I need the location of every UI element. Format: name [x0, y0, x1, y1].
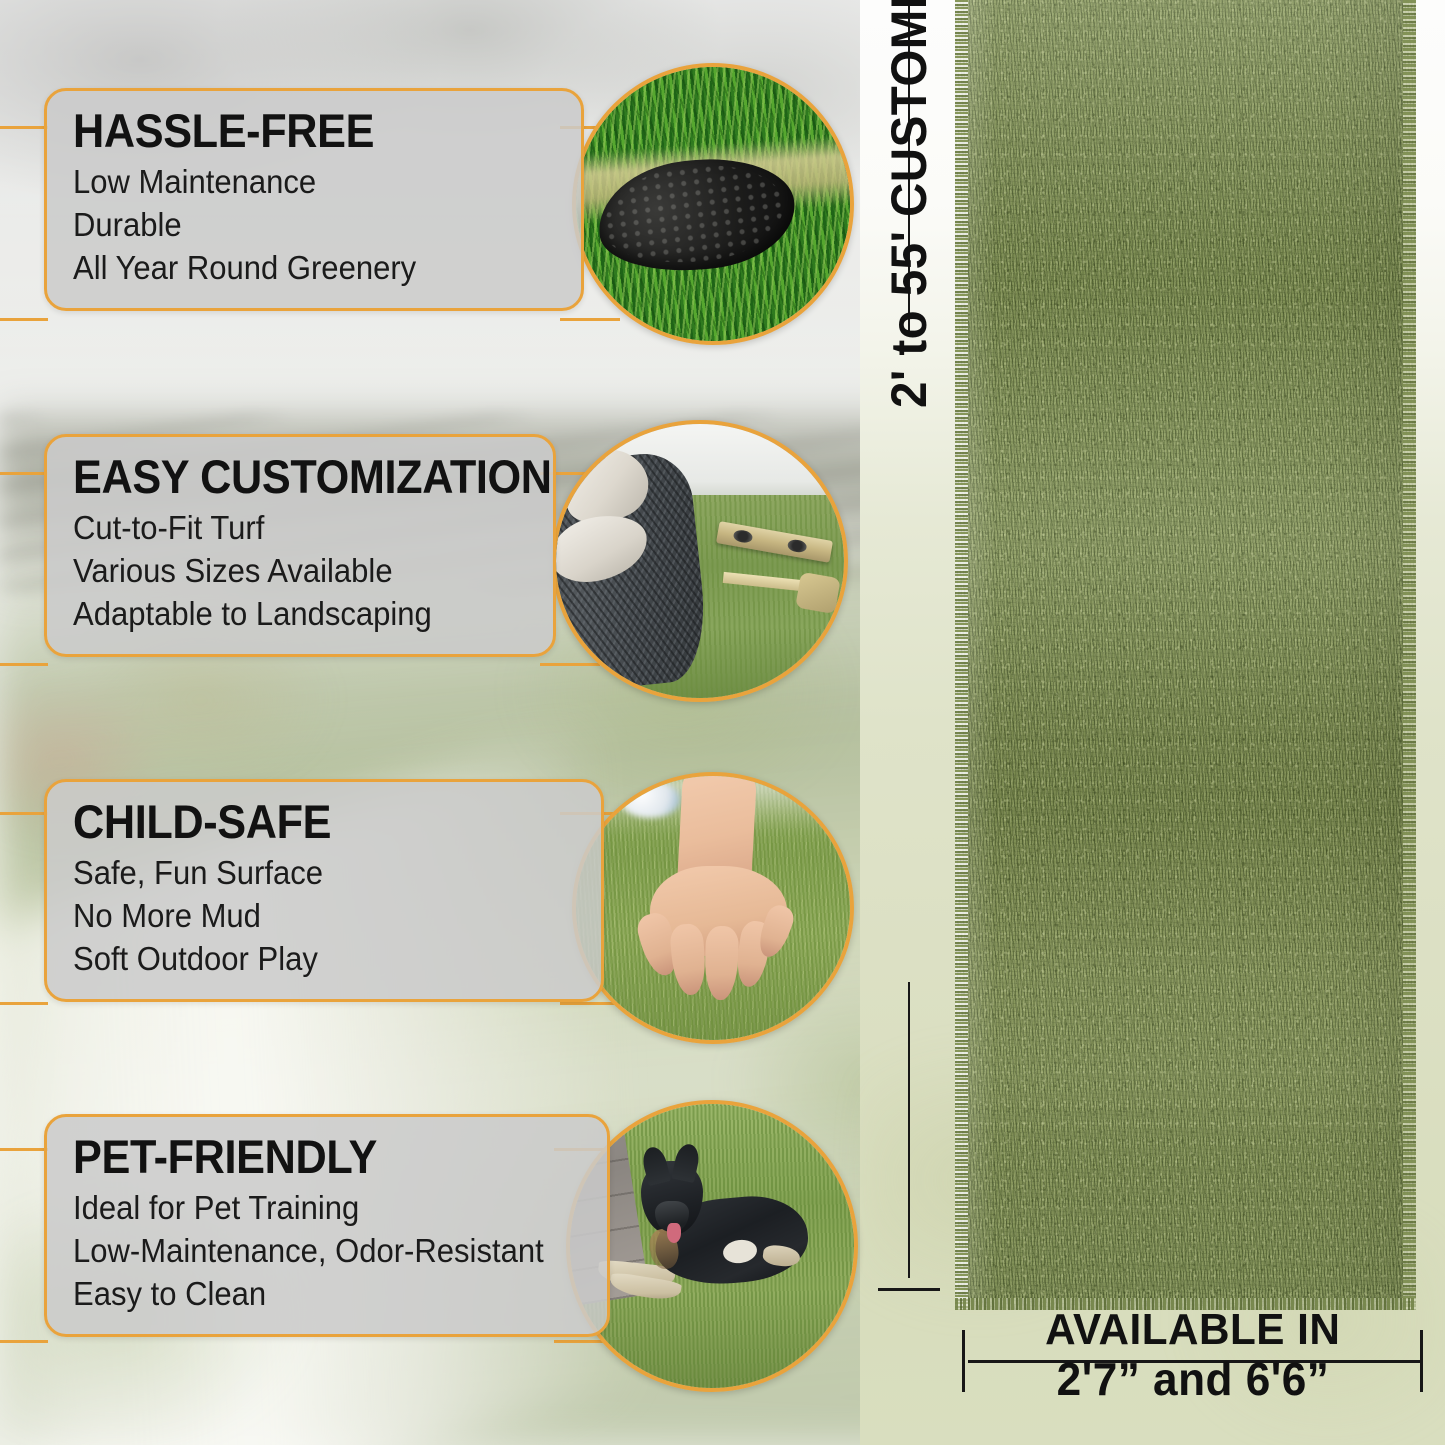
feature-bullet: Ideal for Pet Training [73, 1187, 551, 1230]
leader-stub-left-1a [0, 126, 48, 129]
turf-right-fringe-edge [1403, 0, 1416, 1310]
photo2-level-vial-left [733, 529, 753, 544]
feature-bullet: Low-Maintenance, Odor-Resistant [73, 1230, 551, 1273]
turf-left-fringe-edge [955, 0, 968, 1310]
feature-panel-child-safe: CHILD-SAFE Safe, Fun Surface No More Mud… [44, 779, 604, 1002]
photo2-tape-measure [795, 571, 841, 613]
feature-bullet: Safe, Fun Surface [73, 852, 545, 895]
feature-title: CHILD-SAFE [73, 798, 535, 846]
feature-bullet: Various Sizes Available [73, 550, 500, 593]
feature-bullet: Low Maintenance [73, 161, 526, 204]
vertical-dimension-end-cap [878, 1288, 940, 1291]
feature-panel-easy-customization: EASY CUSTOMIZATION Cut-to-Fit Turf Vario… [44, 434, 556, 657]
feature-bullet: Soft Outdoor Play [73, 938, 545, 981]
feature-panel-pet-friendly: PET-FRIENDLY Ideal for Pet Training Low-… [44, 1114, 610, 1337]
feature-bullet: All Year Round Greenery [73, 247, 526, 290]
leader-stub-left-3b [0, 1002, 48, 1005]
feature-title: PET-FRIENDLY [73, 1133, 540, 1181]
leader-stub-left-2a [0, 472, 48, 475]
leader-stub-left-4a [0, 1148, 48, 1151]
turf-roll-strip [955, 0, 1416, 1310]
leader-stub-left-1b [0, 318, 48, 321]
feature-bullet: No More Mud [73, 895, 545, 938]
feature-photo-easy-customization [552, 420, 848, 702]
photo3-toy-ball [620, 781, 680, 818]
photo4-dog-tongue [667, 1223, 681, 1243]
turf-shading-overlay [955, 0, 1416, 1310]
feature-bullet: Adaptable to Landscaping [73, 593, 500, 636]
leader-stub-left-2b [0, 663, 48, 666]
photo2-level-vial-right [787, 538, 807, 553]
feature-bullet: Cut-to-Fit Turf [73, 507, 500, 550]
availability-line-1: AVAILABLE IN [1045, 1308, 1340, 1352]
feature-bullet: Durable [73, 204, 526, 247]
feature-panel-hassle-free: HASSLE-FREE Low Maintenance Durable All … [44, 88, 584, 311]
vertical-dimension-line-lower [908, 982, 910, 1278]
feature-title: HASSLE-FREE [73, 107, 516, 155]
availability-label: AVAILABLE IN 2'7” and 6'6” [962, 1308, 1424, 1402]
feature-photo-child-safe [572, 772, 854, 1044]
feature-bullet: Easy to Clean [73, 1273, 551, 1316]
infographic-canvas: HASSLE-FREE Low Maintenance Durable All … [0, 0, 1445, 1445]
vertical-dimension-label: 2' to 55' CUSTOMIZABLE [874, 0, 944, 408]
feature-photo-hassle-free [572, 63, 854, 345]
vertical-dimension-text: 2' to 55' CUSTOMIZABLE [880, 0, 938, 408]
feature-title: EASY CUSTOMIZATION [73, 453, 491, 501]
leader-stub-left-4b [0, 1340, 48, 1343]
leader-stub-left-3a [0, 812, 48, 815]
availability-line-2: 2'7” and 6'6” [1057, 1356, 1330, 1402]
